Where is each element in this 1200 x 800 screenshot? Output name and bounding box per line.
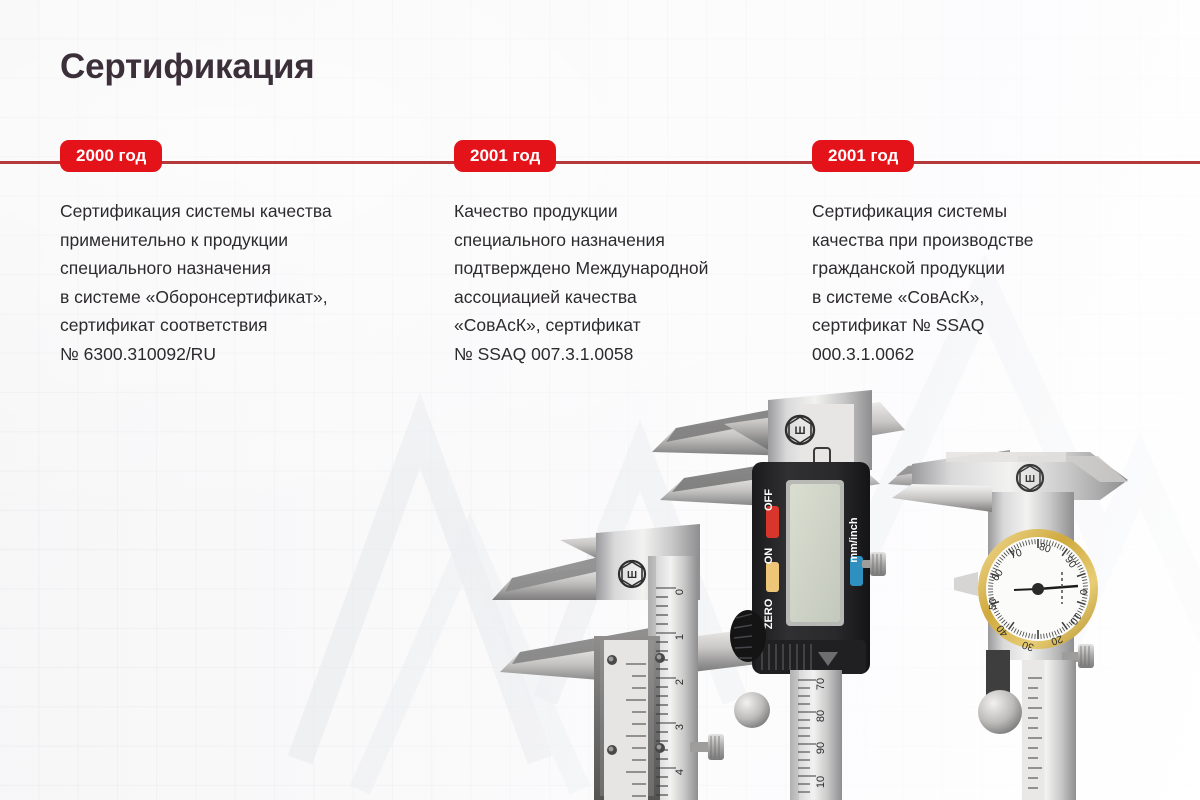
background-soft-light: [0, 0, 1200, 800]
year-badge-1[interactable]: 2000 год: [60, 140, 162, 172]
year-badge-2[interactable]: 2001 год: [454, 140, 556, 172]
card-body-3: Сертификация системы качества при произв…: [812, 197, 1162, 368]
certification-card-3: 2001 год Сертификация системы качества п…: [812, 140, 1162, 368]
card-body-2: Качество продукции специального назначен…: [454, 197, 794, 368]
card-body-1: Сертификация системы качества применител…: [60, 197, 420, 368]
certification-card-2: 2001 год Качество продукции специального…: [454, 140, 794, 368]
page-title: Сертификация: [60, 47, 315, 87]
slide-canvas: 0 1 2 3 4: [0, 0, 1200, 800]
certification-card-1: 2000 год Сертификация системы качества п…: [60, 140, 420, 368]
year-badge-3[interactable]: 2001 год: [812, 140, 914, 172]
